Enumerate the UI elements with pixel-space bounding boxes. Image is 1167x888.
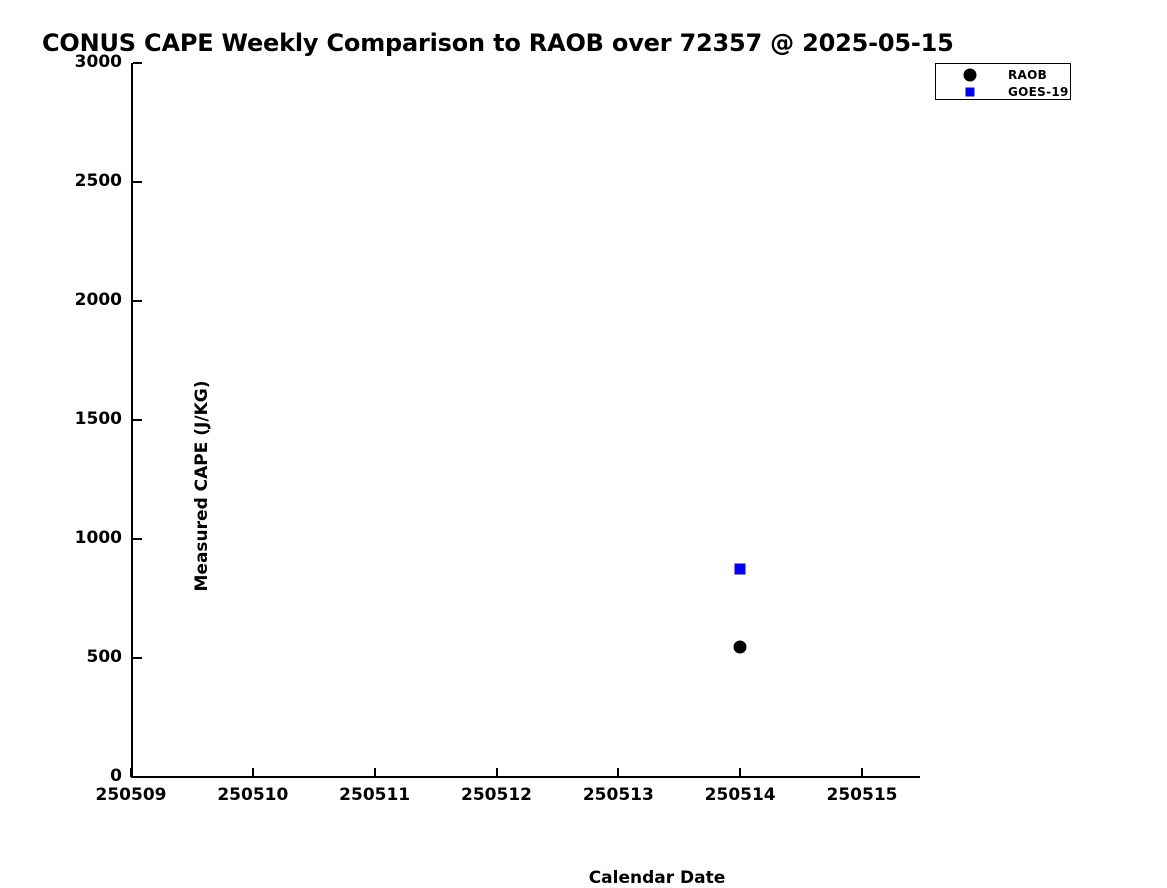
x-tick-label: 250512 — [461, 787, 532, 804]
legend-marker — [966, 87, 975, 96]
chart-legend: RAOBGOES-19 — [935, 63, 1071, 100]
legend-swatch-square-icon — [960, 83, 980, 100]
x-axis-title: Calendar Date — [131, 868, 1167, 888]
x-tick-label: 250509 — [96, 787, 167, 804]
legend-label: GOES-19 — [1008, 85, 1069, 99]
y-axis-tick-labels: 050010001500200025003000 — [0, 63, 122, 778]
chart-figure: CONUS CAPE Weekly Comparison to RAOB ove… — [0, 0, 1167, 875]
page-title: CONUS CAPE Weekly Comparison to RAOB ove… — [42, 29, 954, 57]
x-tick-label: 250511 — [339, 787, 410, 804]
y-tick-label: 0 — [110, 768, 122, 785]
data-point-goes-19 — [735, 563, 746, 574]
x-axis-tick-labels: 2505092505102505112505122505132505142505… — [131, 63, 920, 777]
y-tick-label: 3000 — [75, 54, 122, 71]
y-tick-label: 2000 — [75, 292, 122, 309]
legend-item-goes-19: GOES-19 — [936, 83, 1070, 100]
y-tick-label: 2500 — [75, 173, 122, 190]
x-tick-label: 250510 — [217, 787, 288, 804]
x-tick-label: 250515 — [827, 787, 898, 804]
y-axis-title: Measured CAPE (J/KG) — [192, 129, 212, 843]
legend-swatch-circle-icon — [960, 66, 980, 83]
y-tick-label: 1500 — [75, 411, 122, 428]
plot-area: 050010001500200025003000 250509250510250… — [131, 63, 920, 777]
y-tick-label: 1000 — [75, 530, 122, 547]
legend-marker — [964, 68, 977, 81]
y-tick-label: 500 — [87, 649, 123, 666]
x-tick-label: 250514 — [705, 787, 776, 804]
legend-label: RAOB — [1008, 68, 1047, 82]
legend-item-raob: RAOB — [936, 66, 1070, 83]
data-point-raob — [734, 640, 747, 653]
x-tick-label: 250513 — [583, 787, 654, 804]
